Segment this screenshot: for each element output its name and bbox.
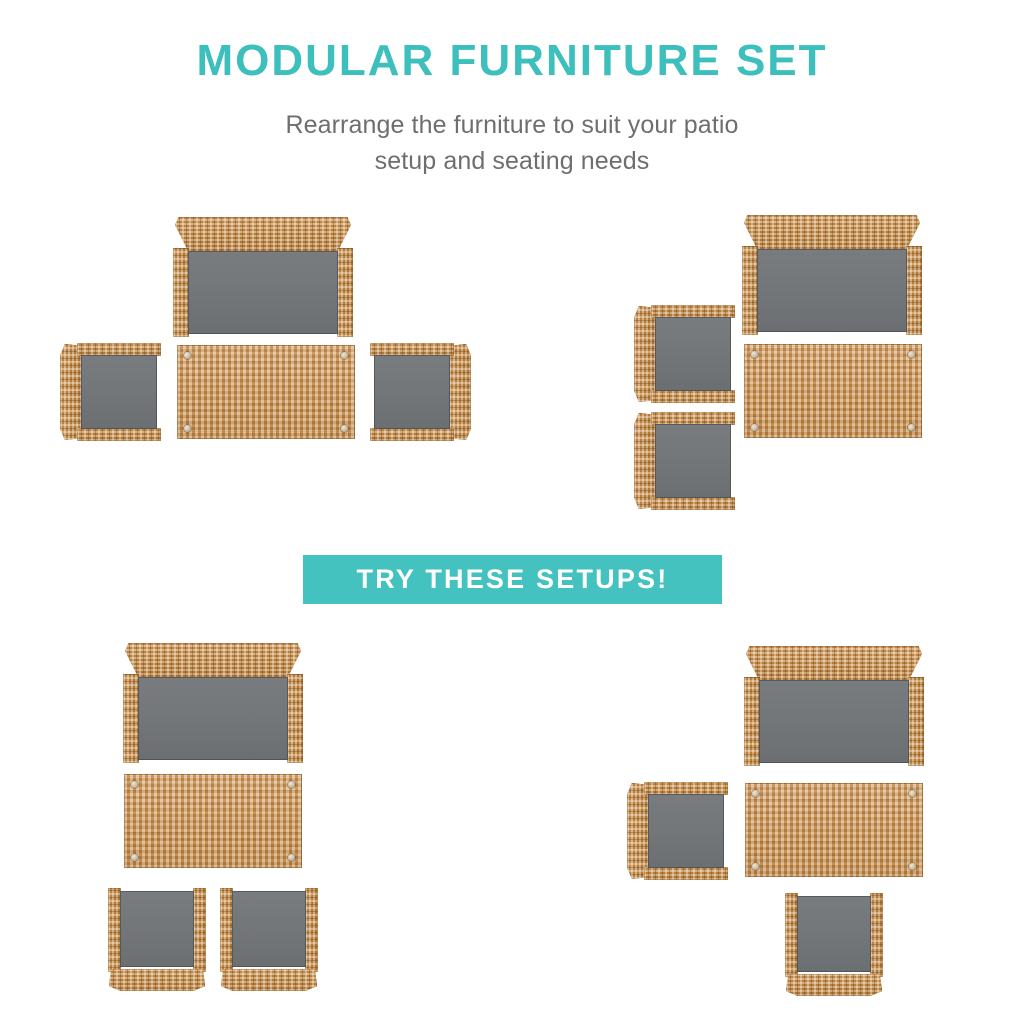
subtitle-line-2: setup and seating needs [0, 144, 1024, 180]
armchair-armrest-right [305, 888, 318, 972]
sofa-armrest-left [173, 248, 189, 337]
sofa-backrest [744, 215, 920, 251]
armchair-backrest [221, 969, 317, 991]
armchair-backrest [109, 969, 205, 991]
armchair-seat-cushion [232, 891, 306, 967]
sofa-armrest-left [744, 677, 760, 766]
coffee-table [124, 774, 302, 868]
table-screw-top-left [131, 781, 138, 788]
sofa-seat-cushion [757, 249, 907, 332]
table-screw-top-left [752, 790, 759, 797]
table-screw-bottom-left [751, 424, 758, 431]
sofa [173, 217, 353, 337]
sofa-seat-cushion [138, 677, 288, 760]
armchair-right [220, 888, 318, 991]
setup-top-left [55, 205, 510, 470]
product-infographic: MODULAR FURNITURE SET Rearrange the furn… [0, 0, 1024, 1024]
table-screw-top-right [909, 790, 916, 797]
armchair-lower [634, 412, 737, 510]
armchair-backrest [634, 306, 656, 402]
table-screw-bottom-right [341, 425, 348, 432]
setup-bottom-right [605, 630, 960, 1002]
setup-top-right [620, 200, 960, 520]
coffee-table [744, 344, 922, 438]
table-screw-top-right [908, 351, 915, 358]
table-screw-bottom-left [184, 425, 191, 432]
sofa-armrest-right [287, 674, 303, 763]
armchair-armrest-right [870, 893, 883, 977]
armchair-left [60, 343, 163, 441]
sofa-backrest [175, 217, 351, 253]
page-title: MODULAR FURNITURE SET [0, 38, 1024, 84]
sofa-armrest-right [337, 248, 353, 337]
armchair-left [627, 782, 730, 880]
sofa [742, 215, 922, 335]
table-screw-bottom-right [909, 863, 916, 870]
sofa-backrest [746, 646, 922, 682]
table-screw-bottom-right [908, 424, 915, 431]
armchair-backrest [60, 344, 82, 440]
sofa-armrest-left [742, 246, 758, 335]
table-screw-bottom-left [752, 863, 759, 870]
armchair-left [108, 888, 206, 991]
armchair-right [368, 343, 471, 441]
table-screw-top-left [751, 351, 758, 358]
sofa-armrest-right [908, 677, 924, 766]
sofa-seat-cushion [759, 680, 909, 763]
armchair-backrest [634, 413, 656, 509]
armchair-armrest-bottom [644, 867, 728, 880]
try-these-setups-banner: TRY THESE SETUPS! [303, 555, 722, 604]
armchair-backrest [449, 344, 471, 440]
table-screw-bottom-right [288, 854, 295, 861]
armchair-armrest-bottom [651, 497, 735, 510]
armchair-backrest [627, 783, 649, 879]
armchair-seat-cushion [81, 355, 157, 429]
armchair-upper [634, 305, 737, 403]
armchair-armrest-bottom [651, 390, 735, 403]
armchair-seat-cushion [797, 896, 871, 972]
coffee-table [745, 783, 923, 877]
armchair-seat-cushion [374, 355, 450, 429]
sofa-backrest [125, 643, 301, 679]
armchair-backrest [786, 974, 882, 996]
armchair-seat-cushion [655, 317, 731, 391]
table-screw-bottom-left [131, 854, 138, 861]
sofa-armrest-right [906, 246, 922, 335]
armchair-armrest-right [193, 888, 206, 972]
table-screw-top-right [288, 781, 295, 788]
armchair-bottom [785, 893, 883, 996]
setup-bottom-left [95, 630, 425, 998]
sofa [123, 643, 303, 763]
table-screw-top-right [341, 352, 348, 359]
page-subtitle: Rearrange the furniture to suit your pat… [0, 108, 1024, 179]
banner-label: TRY THESE SETUPS! [357, 564, 669, 595]
coffee-table [177, 345, 355, 439]
sofa [744, 646, 924, 766]
table-screw-top-left [184, 352, 191, 359]
armchair-armrest-bottom [77, 428, 161, 441]
armchair-seat-cushion [648, 794, 724, 868]
sofa-seat-cushion [188, 251, 338, 334]
subtitle-line-1: Rearrange the furniture to suit your pat… [0, 108, 1024, 144]
armchair-seat-cushion [655, 424, 731, 498]
armchair-seat-cushion [120, 891, 194, 967]
armchair-armrest-bottom [370, 428, 454, 441]
sofa-armrest-left [123, 674, 139, 763]
